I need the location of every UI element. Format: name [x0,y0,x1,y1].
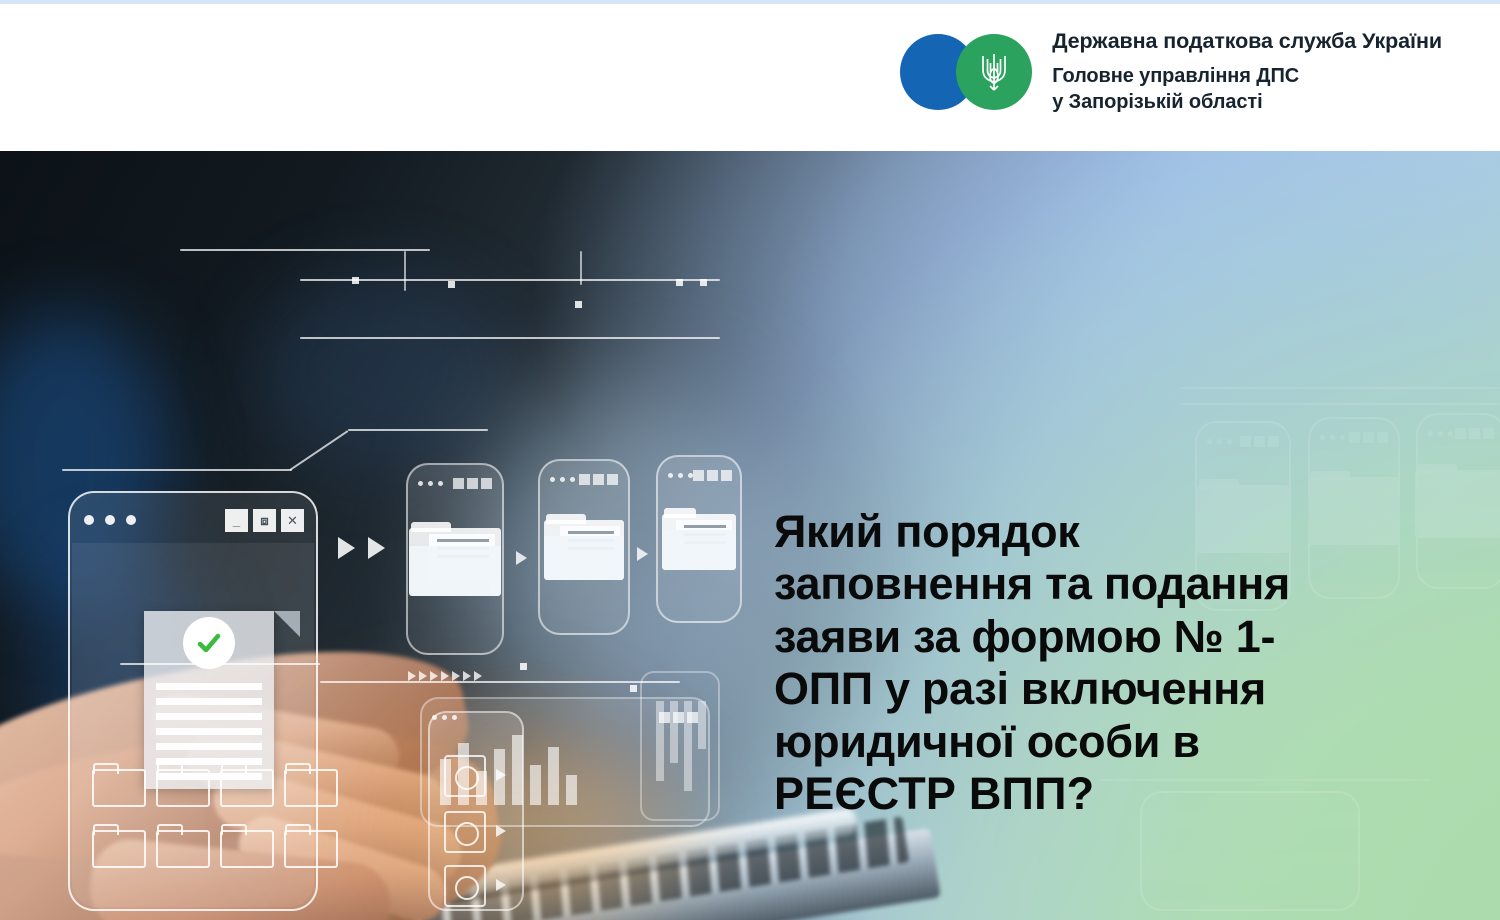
dps-logo [900,31,1032,113]
title-line-3: заяви за формою № 1- [774,611,1464,663]
organization-name-line1: Державна податкова служба України [1052,28,1442,54]
hero-banner: _ ⧈ ✕ [0,151,1500,920]
brand-lockup: Державна податкова служба України Головн… [900,28,1442,115]
hands-on-laptop-photo [0,151,900,920]
title-line-2: заповнення та подання [774,558,1464,610]
brand-text-block: Державна податкова служба України Головн… [1052,28,1442,115]
logo-green-circle-icon [956,34,1032,110]
title-line-1: Який порядок [774,506,1464,558]
hero-title: Який порядок заповнення та подання заяви… [774,506,1464,821]
organization-name-line2: Головне управління ДПС [1052,63,1442,89]
title-line-6-emphasis: РЕЄСТР ВПП? [774,768,1464,820]
ukraine-trident-icon [977,50,1011,94]
organization-name-line3: у Запорізькій області [1052,89,1442,115]
page-header: Державна податкова служба України Головн… [0,4,1500,151]
slide-root: Державна податкова служба України Головн… [0,0,1500,920]
title-line-5: юридичної особи в [774,716,1464,768]
title-line-4: ОПП у разі включення [774,663,1464,715]
